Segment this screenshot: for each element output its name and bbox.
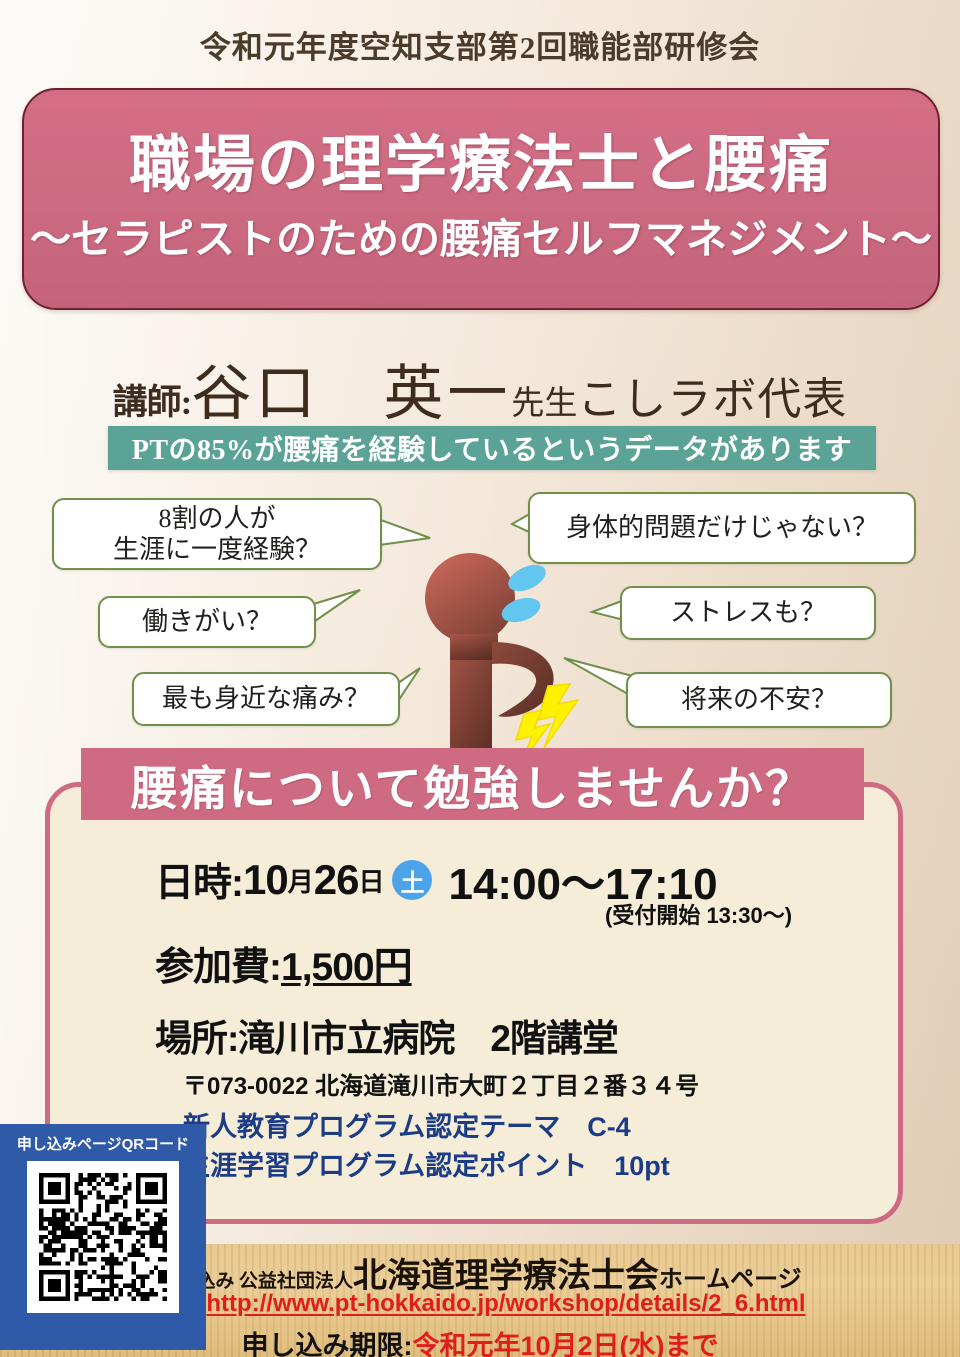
lecturer-name: 谷口 英一 — [191, 361, 511, 427]
title-box: 職場の理学療法士と腰痛 ～セラピストのための腰痛セルフマネジメント～ — [22, 88, 940, 310]
event-series-heading: 令和元年度空知支部第2回職能部研修会 — [0, 22, 960, 67]
deadline-label: 申し込み期限: — [241, 1331, 412, 1357]
venue-address: 〒073-0022 北海道滝川市大町２丁目２番３４号 — [183, 1066, 699, 1101]
month-unit: 月 — [288, 862, 314, 899]
title-main: 職場の理学療法士と腰痛 — [129, 133, 833, 198]
datetime-label: 日時: — [155, 852, 243, 908]
statistic-banner: PTの85%が腰痛を経験しているというデータがあります — [108, 426, 876, 470]
title-subtitle: ～セラピストのための腰痛セルフマネジメント～ — [30, 205, 932, 265]
statistic-banner-text: PTの85%が腰痛を経験しているというデータがあります — [132, 428, 852, 468]
lecturer-honorific: 先生 — [511, 386, 577, 422]
bubble-closest-pain: 最も身近な痛み？ — [132, 672, 400, 726]
deadline-value: 令和元年10月2日(水)まで — [412, 1331, 718, 1357]
program-points: 生涯学習プログラム認定ポイント 10pt — [183, 1147, 670, 1186]
registration-url-link[interactable]: http://www.pt-hokkaido.jp/workshop/detai… — [206, 1290, 805, 1317]
bubble-hatarakigai: 働きがい？ — [98, 596, 316, 648]
weekday-badge: 土 — [392, 860, 432, 900]
lecturer-line: 講師:谷口 英一先生こしラボ代表 — [0, 345, 960, 432]
fee-label: 参加費: — [155, 946, 281, 989]
qr-code-caption: 申し込みページQRコード — [17, 1133, 189, 1154]
bubble-stress: ストレスも？ — [620, 586, 876, 640]
footer-org-suffix: ホームページ — [659, 1266, 802, 1293]
fee-row: 参加費:1,500円 — [155, 936, 412, 992]
lecturer-prefix: 講師: — [113, 383, 192, 422]
event-day: 26 — [314, 856, 359, 904]
bubble-not-only-physical: 身体的問題だけじゃない？ — [528, 492, 916, 564]
qr-code-glyph — [39, 1173, 167, 1301]
bubble-8wari: 8割の人が 生涯に一度経験？ — [52, 498, 382, 570]
reception-time: (受付開始 13:30～) — [605, 898, 792, 930]
lecturer-organization: こしラボ代表 — [577, 375, 847, 424]
day-unit: 日 — [358, 862, 384, 899]
qr-code-image[interactable] — [27, 1161, 179, 1313]
program-credits: 新人教育プログラム認定テーマ C-4 生涯学習プログラム認定ポイント 10pt — [183, 1108, 670, 1186]
program-theme: 新人教育プログラム認定テーマ C-4 — [183, 1108, 670, 1147]
footer-org-prefix: 公益社団法人 — [239, 1271, 353, 1292]
poster-root: 令和元年度空知支部第2回職能部研修会 職場の理学療法士と腰痛 ～セラピストのため… — [0, 0, 960, 1357]
place-label: 場所: — [155, 1018, 238, 1059]
place-row: 場所:滝川市立病院 2階講堂 — [155, 1008, 618, 1062]
bubble-8wari-line2: 生涯に一度経験？ — [113, 534, 321, 565]
place-value: 滝川市立病院 2階講堂 — [238, 1018, 618, 1059]
event-month: 10 — [243, 856, 288, 904]
qr-code-panel[interactable]: 申し込みページQRコード — [0, 1124, 206, 1350]
bubble-8wari-line1: 8割の人が — [158, 503, 275, 534]
fee-value: 1,500円 — [281, 946, 412, 989]
bubble-future-anxiety: 将来の不安？ — [626, 672, 892, 728]
